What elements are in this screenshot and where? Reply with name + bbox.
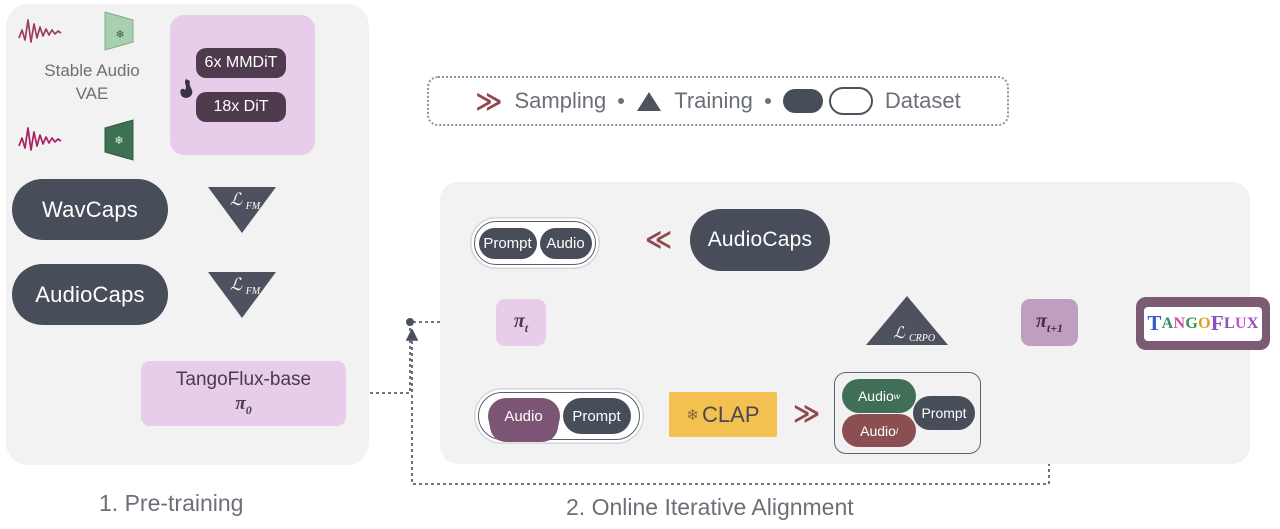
svg-text:FM: FM bbox=[245, 286, 261, 297]
pill-audio-lose-sup: l bbox=[896, 426, 898, 436]
alignment-caption: 2. Online Iterative Alignment bbox=[566, 494, 854, 521]
pill-prompt-generated-label: Prompt bbox=[572, 408, 620, 425]
logo-letter-G-3: G bbox=[1185, 315, 1198, 333]
audio-waveform-icon bbox=[16, 18, 62, 44]
loss-fm-2: ℒ FM bbox=[206, 270, 278, 320]
generated-pair-group: Audio Prompt bbox=[478, 392, 640, 440]
dit-block: 18x DiT bbox=[196, 92, 286, 122]
pill-prompt-input-label: Prompt bbox=[483, 235, 531, 252]
pill-prompt-input[interactable]: Prompt bbox=[479, 228, 537, 259]
logo-letter-X-8: X bbox=[1247, 315, 1259, 333]
vae-label-line2: VAE bbox=[22, 83, 162, 106]
double-chevron-right-icon: ≫ bbox=[475, 88, 502, 114]
dataset-audiocaps[interactable]: AudioCaps bbox=[12, 264, 168, 325]
tangoflux-base-box[interactable]: TangoFlux-base π0 bbox=[141, 361, 346, 426]
policy-pi-0: π0 bbox=[235, 393, 251, 418]
legend-sampling-label: Sampling bbox=[515, 88, 607, 114]
tangoflux-base-title: TangoFlux-base bbox=[176, 369, 311, 391]
policy-pi-t1-sub: t+1 bbox=[1047, 321, 1063, 335]
pill-audio-win-label: Audio bbox=[858, 388, 894, 404]
logo-letter-T-0: T bbox=[1147, 311, 1161, 336]
pill-audio-input-label: Audio bbox=[546, 235, 584, 252]
dataset-audiocaps-source[interactable]: AudioCaps bbox=[690, 209, 830, 271]
double-chevron-left-icon: ≪ bbox=[645, 226, 672, 252]
policy-subscript: 0 bbox=[246, 403, 252, 417]
vae-label: Stable Audio VAE bbox=[22, 60, 162, 106]
pill-prompt-generated[interactable]: Prompt bbox=[563, 398, 631, 434]
logo-letter-U-7: U bbox=[1235, 315, 1247, 333]
pill-audio-input[interactable]: Audio bbox=[540, 228, 592, 259]
policy-pi-t1-box[interactable]: πt+1 bbox=[1021, 299, 1078, 346]
logo-letter-A-1: A bbox=[1162, 315, 1174, 333]
svg-text:ℒ: ℒ bbox=[893, 325, 905, 342]
svg-text:ℒ: ℒ bbox=[230, 190, 243, 209]
legend-dataset-label: Dataset bbox=[885, 88, 961, 114]
pill-audio-win-sup: w bbox=[894, 391, 900, 401]
pill-audio-lose[interactable]: Audiol bbox=[842, 414, 916, 447]
loss-crpo: ℒ CRPO bbox=[864, 294, 950, 348]
legend-separator-2 bbox=[765, 98, 771, 104]
double-chevron-right-icon-clap: ≫ bbox=[793, 400, 820, 426]
legend-training-label: Training bbox=[674, 88, 753, 114]
clap-model-box[interactable]: ❄ CLAP bbox=[669, 392, 777, 437]
policy-symbol: π bbox=[235, 393, 245, 414]
pill-audio-generated-label: Audio bbox=[504, 408, 542, 425]
tangoflux-logo[interactable]: TANGOFLUX bbox=[1136, 297, 1270, 350]
vae-decoder-icon: ❄ bbox=[103, 118, 135, 162]
pill-audio-win[interactable]: Audiow bbox=[842, 379, 916, 413]
dataset-wavcaps-label: WavCaps bbox=[42, 197, 138, 223]
input-pair-group: Prompt Audio bbox=[474, 221, 596, 265]
tangoflux-logo-inner: TANGOFLUX bbox=[1144, 307, 1262, 341]
triangle-icon bbox=[636, 90, 662, 112]
dit-label: 18x DiT bbox=[213, 98, 268, 116]
pill-audio-generated[interactable]: Audio bbox=[488, 398, 560, 434]
pill-prompt-preference[interactable]: Prompt bbox=[913, 396, 975, 430]
policy-pi-t-symbol: π bbox=[514, 310, 525, 332]
pill-prompt-preference-label: Prompt bbox=[921, 405, 966, 421]
dataset-audiocaps-label: AudioCaps bbox=[35, 282, 144, 308]
vae-encoder-icon: ❄ bbox=[103, 10, 135, 52]
clap-label: CLAP bbox=[702, 402, 759, 428]
svg-text:CRPO: CRPO bbox=[909, 333, 935, 344]
logo-letter-O-4: O bbox=[1198, 315, 1211, 333]
svg-text:FM: FM bbox=[245, 201, 261, 212]
svg-text:❄: ❄ bbox=[114, 135, 123, 147]
logo-letter-N-2: N bbox=[1173, 315, 1185, 333]
logo-letter-F-5: F bbox=[1211, 311, 1224, 336]
audio-waveform-icon bbox=[16, 126, 62, 152]
logo-letter-L-6: L bbox=[1224, 315, 1235, 333]
loss-fm-1: ℒ FM bbox=[206, 185, 278, 235]
snowflake-icon: ❄ bbox=[686, 406, 699, 424]
pill-audio-lose-label: Audio bbox=[860, 423, 896, 439]
svg-text:❄: ❄ bbox=[115, 29, 124, 41]
legend: ≫ Sampling Training Dataset bbox=[427, 76, 1009, 126]
legend-separator-1 bbox=[618, 98, 624, 104]
mmdit-block: 6x MMDiT bbox=[196, 48, 286, 78]
dataset-audiocaps-source-label: AudioCaps bbox=[708, 228, 813, 252]
rounded-pill-filled-icon bbox=[783, 89, 823, 113]
policy-pi-t-box[interactable]: πt bbox=[496, 299, 546, 346]
rounded-pill-outline-icon bbox=[829, 87, 873, 115]
svg-text:ℒ: ℒ bbox=[230, 275, 243, 294]
policy-pi-t-sub: t bbox=[525, 321, 528, 335]
dataset-wavcaps[interactable]: WavCaps bbox=[12, 179, 168, 240]
vae-label-line1: Stable Audio bbox=[22, 60, 162, 83]
mmdit-label: 6x MMDiT bbox=[205, 54, 278, 72]
policy-pi-t1-symbol: π bbox=[1036, 310, 1047, 332]
pretraining-caption: 1. Pre-training bbox=[99, 490, 243, 517]
flame-icon bbox=[177, 78, 195, 100]
